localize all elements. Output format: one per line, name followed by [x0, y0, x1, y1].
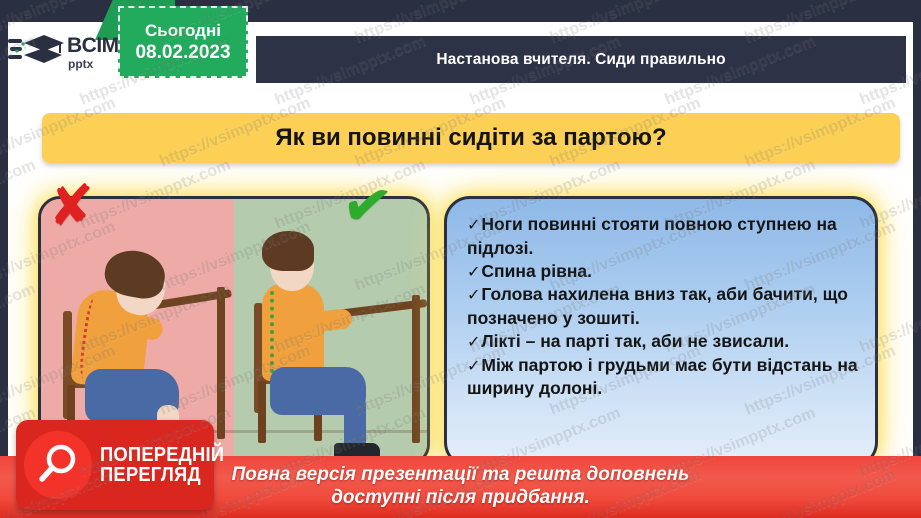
slide-root: Як ви повинні сидіти за партою? — [0, 0, 921, 518]
rule-item: ✓Лікті – на парті так, аби не звисали. — [467, 330, 859, 354]
check-icon: ✓ — [467, 287, 480, 304]
header-band: Настанова вчителя. Сиди правильно — [256, 36, 906, 83]
magnifier-icon — [24, 431, 92, 499]
preview-badge[interactable]: ПОПЕРЕДНІЙ ПЕРЕГЛЯД — [16, 420, 214, 510]
check-icon: ✓ — [467, 358, 480, 375]
date-badge-label: Сьогодні — [145, 20, 221, 41]
chair-leg — [258, 381, 266, 443]
figure-hair — [262, 231, 314, 271]
graduation-cap-icon — [8, 31, 66, 73]
brand-suffix: pptx — [68, 58, 119, 70]
rules-panel: ✓Ноги повинні стояти повною ступнею на п… — [444, 196, 878, 468]
rules-panel-body: ✓Ноги повинні стояти повною ступнею на п… — [444, 196, 878, 468]
spine-straight-marker — [270, 291, 278, 373]
desk-leg — [217, 287, 225, 439]
check-icon: ✓ — [467, 217, 480, 234]
rule-text: Між партою і грудьми має бути відстань н… — [467, 355, 863, 399]
page-title: Як ви повинні сидіти за партою? — [275, 124, 666, 152]
preview-badge-line2: ПЕРЕГЛЯД — [100, 465, 224, 485]
title-banner: Як ви повинні сидіти за партою? — [42, 113, 900, 163]
rule-item: ✓Голова нахилена вниз так, аби бачити, щ… — [467, 283, 859, 330]
rule-text: Лікті – на парті так, аби не звисали. — [481, 331, 789, 351]
date-badge: Сьогодні 08.02.2023 — [118, 6, 248, 78]
brand-name: BCIM — [67, 35, 119, 56]
bottom-banner-line2: доступні після придбання. — [331, 487, 590, 510]
rule-item: ✓Ноги повинні стояти повною ступнею на п… — [467, 213, 859, 260]
rule-item: ✓Між партою і грудьми має бути відстань … — [467, 354, 859, 401]
bottom-banner-line1: Повна версія презентації та решта доповн… — [232, 464, 690, 487]
header-title: Настанова вчителя. Сиди правильно — [436, 51, 725, 69]
preview-badge-text: ПОПЕРЕДНІЙ ПЕРЕГЛЯД — [100, 445, 224, 486]
rule-item: ✓Спина рівна. — [467, 260, 859, 284]
good-posture-panel — [234, 199, 427, 463]
check-icon: ✓ — [467, 264, 480, 281]
rule-text: Спина рівна. — [481, 261, 592, 281]
figure-arm — [295, 308, 353, 334]
cross-mark-icon: ✘ — [47, 177, 96, 235]
brand-logo-text: BCIM pptx — [67, 35, 119, 70]
brand-logo: BCIM pptx — [8, 28, 128, 76]
desk-leg — [412, 295, 420, 443]
date-badge-value: 08.02.2023 — [135, 41, 230, 65]
check-mark-icon: ✔ — [338, 173, 396, 239]
preview-badge-line1: ПОПЕРЕДНІЙ — [100, 445, 224, 465]
rule-text: Ноги повинні стояти повною ступнею на пі… — [467, 214, 842, 258]
rule-text: Голова нахилена вниз так, аби бачити, що… — [467, 284, 853, 328]
check-icon: ✓ — [467, 334, 480, 351]
